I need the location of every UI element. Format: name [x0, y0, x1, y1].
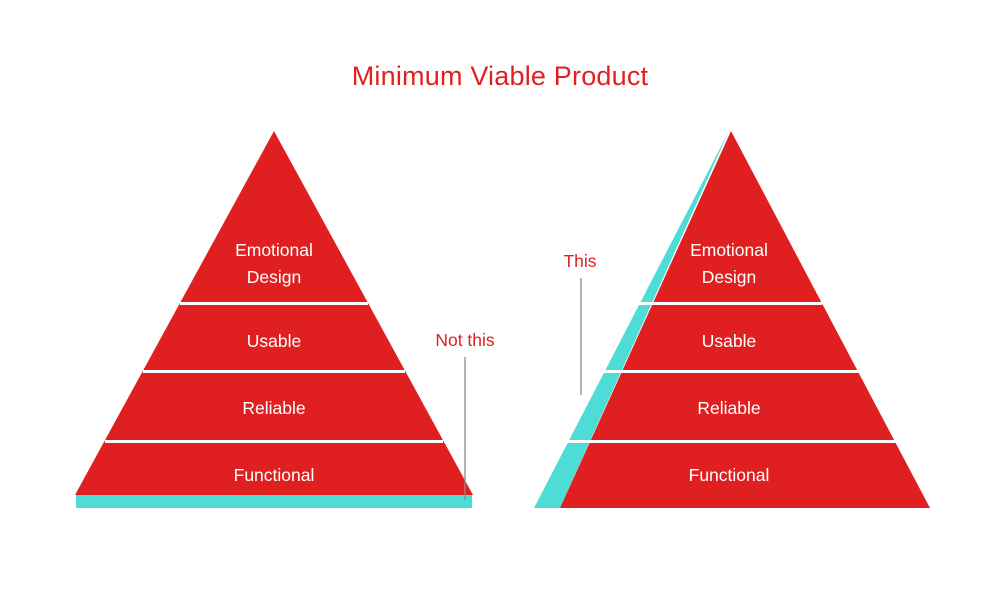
svg-text:Design: Design — [247, 267, 301, 287]
page-title: Minimum Viable Product — [352, 61, 649, 91]
tier-label-functional: Functional — [689, 465, 770, 485]
pyramid-body — [560, 131, 930, 508]
not-this-pyramid: Emotional Design Usable Reliable Functio… — [75, 131, 495, 508]
diagram-canvas: Minimum Viable Product Emotional Design … — [0, 0, 1000, 600]
this-pyramid: Emotional Design Usable Reliable Functio… — [534, 131, 930, 508]
tier-label-usable: Usable — [247, 331, 301, 351]
svg-text:Design: Design — [702, 267, 756, 287]
svg-text:Emotional: Emotional — [235, 240, 313, 260]
callout-not-this-label: Not this — [435, 330, 495, 350]
tier-label-functional: Functional — [234, 465, 315, 485]
tier-label-reliable: Reliable — [697, 398, 760, 418]
teal-base-strip — [76, 495, 472, 508]
tier-label-reliable: Reliable — [242, 398, 305, 418]
mvp-pyramid-diagram: Minimum Viable Product Emotional Design … — [0, 0, 1000, 600]
callout-this-label: This — [563, 251, 596, 271]
tier-label-usable: Usable — [702, 331, 756, 351]
svg-text:Emotional: Emotional — [690, 240, 768, 260]
